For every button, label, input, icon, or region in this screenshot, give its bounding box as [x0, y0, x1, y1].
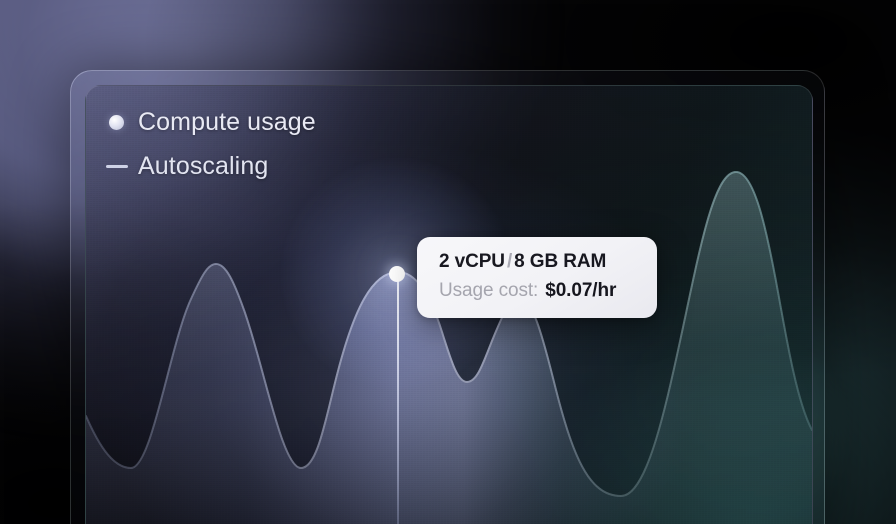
- chart-legend: Compute usage Autoscaling: [104, 100, 316, 188]
- chart-area-shade: [86, 172, 812, 524]
- chart-tooltip: 2 vCPU/8 GB RAM Usage cost:$0.07/hr: [417, 237, 657, 318]
- screenshot-stage: Compute usage Autoscaling 2 vCPU/8 GB RA…: [0, 0, 896, 524]
- tooltip-ram: 8 GB RAM: [514, 251, 606, 272]
- dot-marker-icon: [109, 115, 124, 130]
- legend-marker-wrap: [104, 115, 138, 130]
- legend-label-autoscaling: Autoscaling: [138, 152, 268, 181]
- tooltip-cost-value: $0.07/hr: [545, 280, 616, 301]
- tooltip-instance-spec: 2 vCPU/8 GB RAM: [439, 251, 635, 273]
- legend-marker-wrap: [104, 165, 138, 168]
- hover-crosshair-line: [397, 274, 399, 524]
- legend-item-compute-usage[interactable]: Compute usage: [104, 100, 316, 144]
- legend-item-autoscaling[interactable]: Autoscaling: [104, 144, 316, 188]
- hover-data-point-marker[interactable]: [389, 266, 405, 282]
- tooltip-vcpu: 2 vCPU: [439, 251, 505, 272]
- tooltip-cost-label: Usage cost:: [439, 280, 538, 301]
- dash-marker-icon: [106, 165, 128, 168]
- legend-label-compute-usage: Compute usage: [138, 108, 316, 137]
- tooltip-spec-separator: /: [505, 251, 514, 272]
- tooltip-usage-cost-row: Usage cost:$0.07/hr: [439, 280, 635, 302]
